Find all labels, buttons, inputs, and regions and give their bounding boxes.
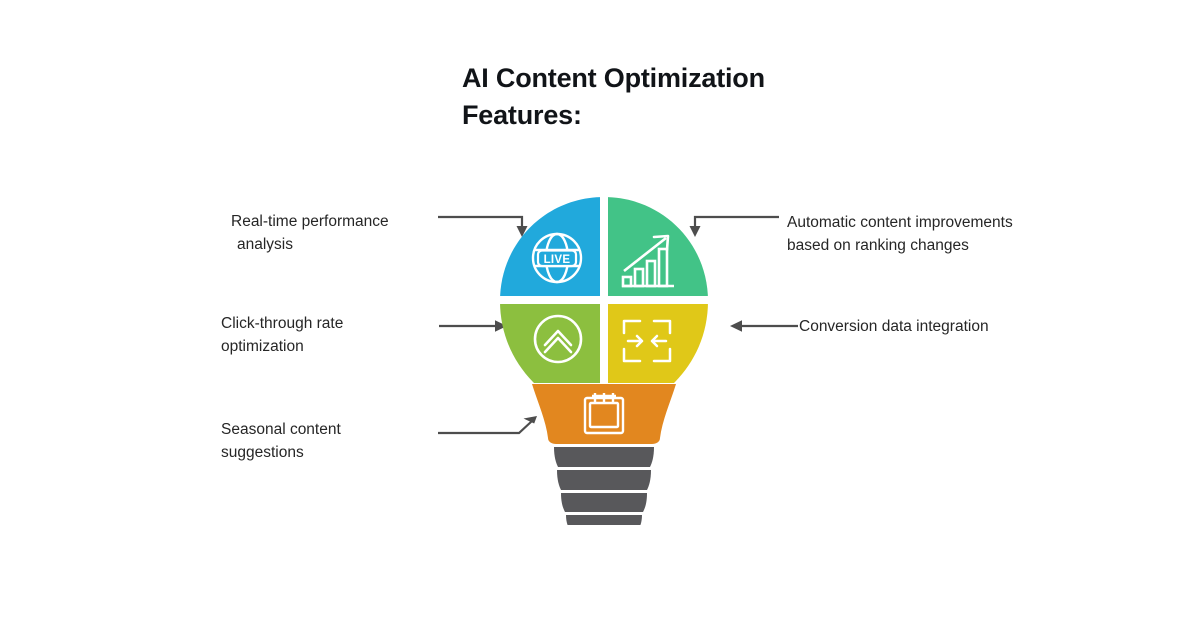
callout-label-ctr-line-2: optimization: [221, 335, 431, 358]
callout-label-seasonal-line-1: Seasonal content: [221, 418, 431, 441]
callout-label-conversion-line-1: Conversion data integration: [799, 315, 1059, 338]
base-band-1: [554, 447, 654, 467]
callout-label-automatic-line-2: based on ranking changes: [787, 234, 1062, 257]
base-band-2: [557, 470, 651, 490]
base-band-4: [566, 515, 642, 525]
globe-live-icon-text: LIVE: [544, 254, 571, 266]
callout-label-realtime: Real-time performance analysis: [231, 210, 431, 256]
page-title: AI Content Optimization Features:: [462, 60, 822, 134]
base-band-3: [561, 493, 647, 512]
callout-label-automatic: Automatic content improvements based on …: [787, 211, 1062, 257]
callout-label-automatic-line-1: Automatic content improvements: [787, 211, 1062, 234]
lightbulb-diagram: LIVE: [496, 195, 712, 525]
callout-label-realtime-line-2: analysis: [231, 233, 431, 256]
bulb-screw-base: [554, 447, 654, 525]
callout-label-realtime-line-1: Real-time performance: [231, 210, 431, 233]
callout-label-seasonal: Seasonal content suggestions: [221, 418, 431, 464]
callout-label-seasonal-line-2: suggestions: [221, 441, 431, 464]
page-title-line-1: AI Content Optimization: [462, 60, 822, 97]
page-title-line-2: Features:: [462, 97, 822, 134]
callout-label-ctr: Click-through rate optimization: [221, 312, 431, 358]
callout-label-ctr-line-1: Click-through rate: [221, 312, 431, 335]
arrow-left-icon: [720, 312, 800, 340]
callout-label-conversion: Conversion data integration: [799, 315, 1059, 338]
